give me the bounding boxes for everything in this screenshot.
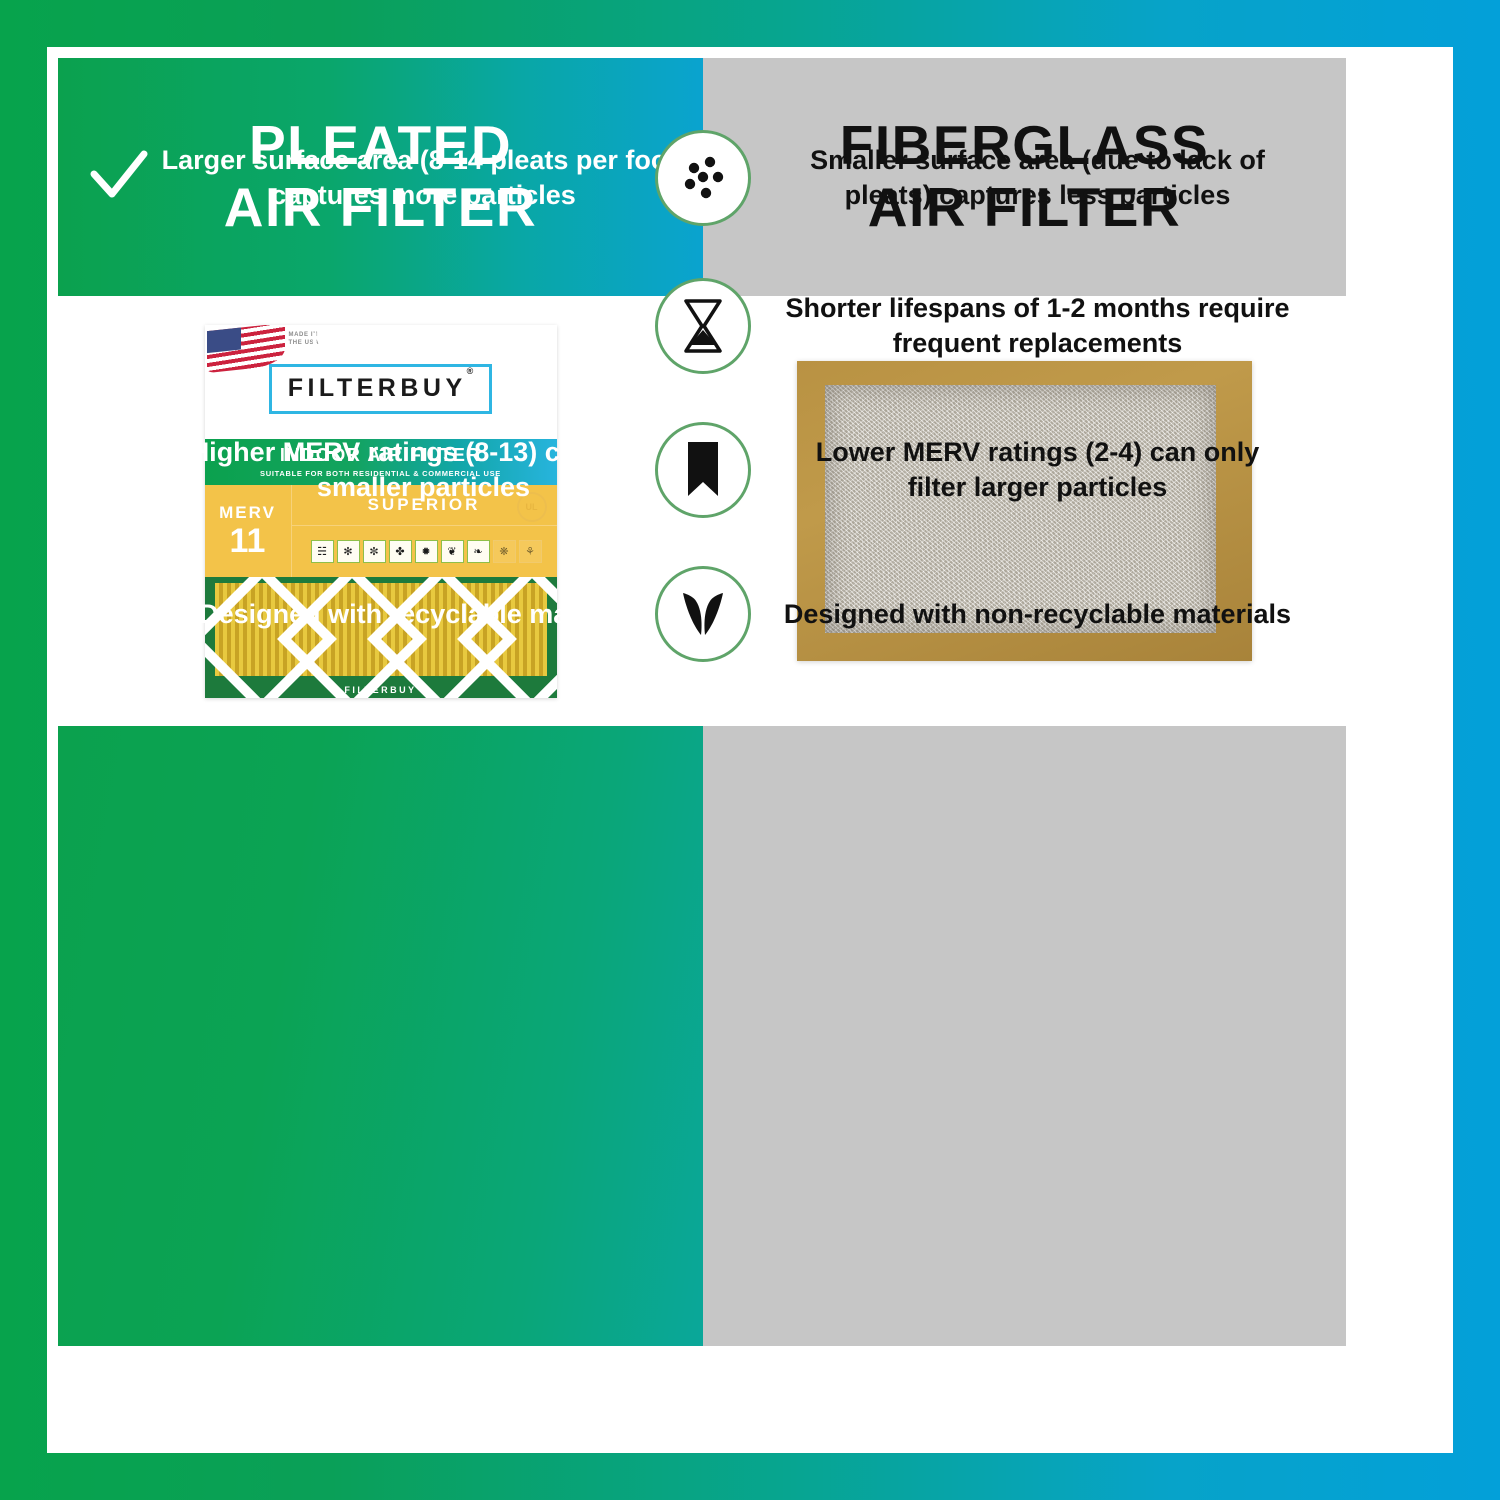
hourglass-icon bbox=[655, 278, 751, 374]
comparison-row: Longer lifespans of 3-12 months result i… bbox=[58, 266, 1346, 386]
comparison-rows: Larger surface area (8-14 pleats per foo… bbox=[58, 58, 1346, 678]
row-right-text: Designed with non-recyclable materials bbox=[703, 597, 1346, 632]
comparison-left-column bbox=[58, 726, 703, 1346]
check-icon bbox=[90, 296, 148, 357]
row-left-cell: Designed with recyclable materials bbox=[58, 584, 703, 645]
comparison-row: Higher MERV ratings (8-13) can filter sm… bbox=[58, 410, 1346, 530]
comparison-row: Larger surface area (8-14 pleats per foo… bbox=[58, 108, 1346, 248]
row-left-cell: Higher MERV ratings (8-13) can filter sm… bbox=[58, 435, 703, 504]
check-icon bbox=[90, 148, 148, 209]
row-left-cell: Larger surface area (8-14 pleats per foo… bbox=[58, 143, 703, 212]
particles-icon bbox=[655, 130, 751, 226]
check-icon bbox=[90, 584, 148, 645]
row-right-text: Lower MERV ratings (2-4) can only filter… bbox=[703, 435, 1346, 504]
check-icon bbox=[90, 440, 148, 501]
comparison-right-column bbox=[703, 726, 1346, 1346]
leaf-icon bbox=[655, 566, 751, 662]
box-bottom-brand: FILTERBUY bbox=[205, 685, 557, 695]
row-left-cell: Longer lifespans of 3-12 months result i… bbox=[58, 291, 703, 360]
row-left-text: Longer lifespans of 3-12 months result i… bbox=[158, 291, 703, 360]
row-right-text: Shorter lifespans of 1-2 months require … bbox=[703, 291, 1346, 360]
row-left-text: Designed with recyclable materials bbox=[158, 597, 703, 632]
row-right-text: Smaller surface area (due to lack of ple… bbox=[703, 143, 1346, 212]
comparison-row: Designed with recyclable materials Desig… bbox=[58, 554, 1346, 674]
infographic-canvas: PLEATED AIR FILTER FIBERGLASS AIR FILTER… bbox=[58, 58, 1346, 1346]
bookmark-icon bbox=[655, 422, 751, 518]
row-left-text: Higher MERV ratings (8-13) can filter sm… bbox=[158, 435, 703, 504]
comparison-panel bbox=[58, 726, 1346, 1346]
row-left-text: Larger surface area (8-14 pleats per foo… bbox=[158, 143, 703, 212]
